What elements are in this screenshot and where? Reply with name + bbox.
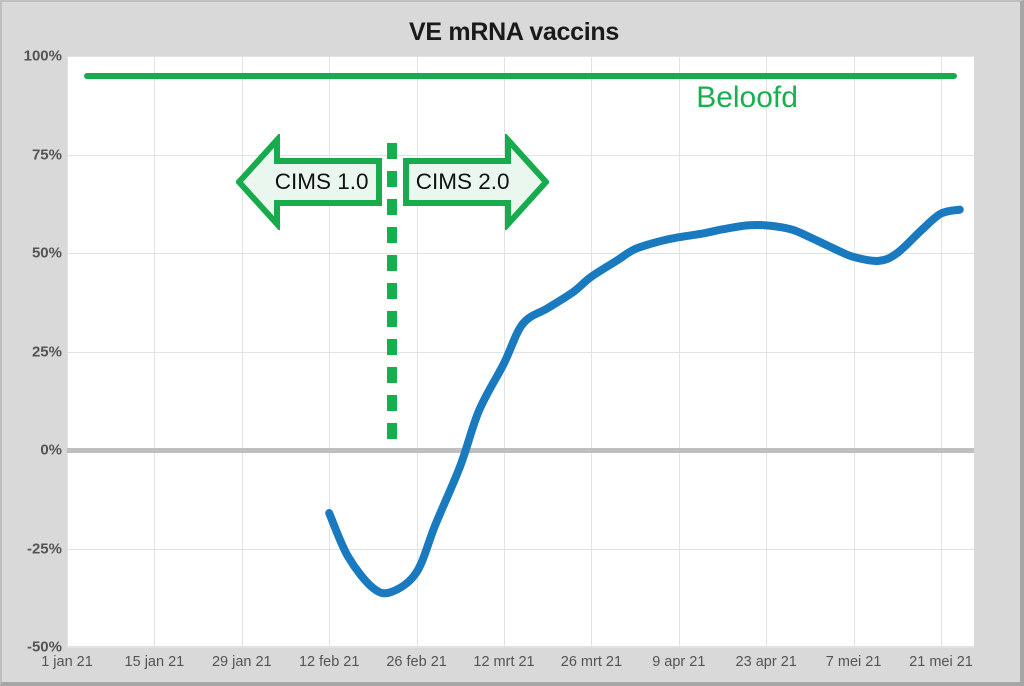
x-axis-tick-label: 26 mrt 21	[561, 654, 622, 670]
y-axis-tick-label: 75%	[4, 146, 62, 163]
y-axis: 100%75%50%25%0%-25%-50%	[2, 2, 62, 686]
x-axis-tick-label: 12 feb 21	[299, 654, 359, 670]
series-line-chart	[67, 56, 974, 647]
x-axis-tick-label: 29 jan 21	[212, 654, 272, 670]
x-axis-tick-label: 26 feb 21	[386, 654, 446, 670]
cims-2-label: CIMS 2.0	[416, 169, 536, 195]
chart-container: VE mRNA vaccins 100%75%50%25%0%-25%-50% …	[0, 0, 1024, 686]
plot-area: Beloofd CIMS 1.0 CIMS 2.0	[67, 56, 974, 647]
y-axis-tick-label: -50%	[4, 639, 62, 656]
x-axis-tick-label: 1 jan 21	[41, 654, 93, 670]
y-axis-tick-label: 25%	[4, 343, 62, 360]
series-path-ve-mrna	[329, 210, 960, 594]
chart-title: VE mRNA vaccins	[2, 18, 1024, 47]
gridline-horizontal	[67, 647, 974, 648]
x-axis-tick-label: 23 apr 21	[736, 654, 797, 670]
cims-1-label: CIMS 1.0	[249, 169, 369, 195]
x-axis-tick-label: 7 mei 21	[826, 654, 882, 670]
x-axis-tick-label: 15 jan 21	[125, 654, 185, 670]
x-axis-tick-label: 9 apr 21	[652, 654, 705, 670]
y-axis-tick-label: 0%	[4, 442, 62, 459]
x-axis-tick-label: 21 mei 21	[909, 654, 973, 670]
y-axis-tick-label: 50%	[4, 245, 62, 262]
y-axis-tick-label: 100%	[4, 48, 62, 65]
y-axis-tick-label: -25%	[4, 540, 62, 557]
x-axis-tick-label: 12 mrt 21	[473, 654, 534, 670]
